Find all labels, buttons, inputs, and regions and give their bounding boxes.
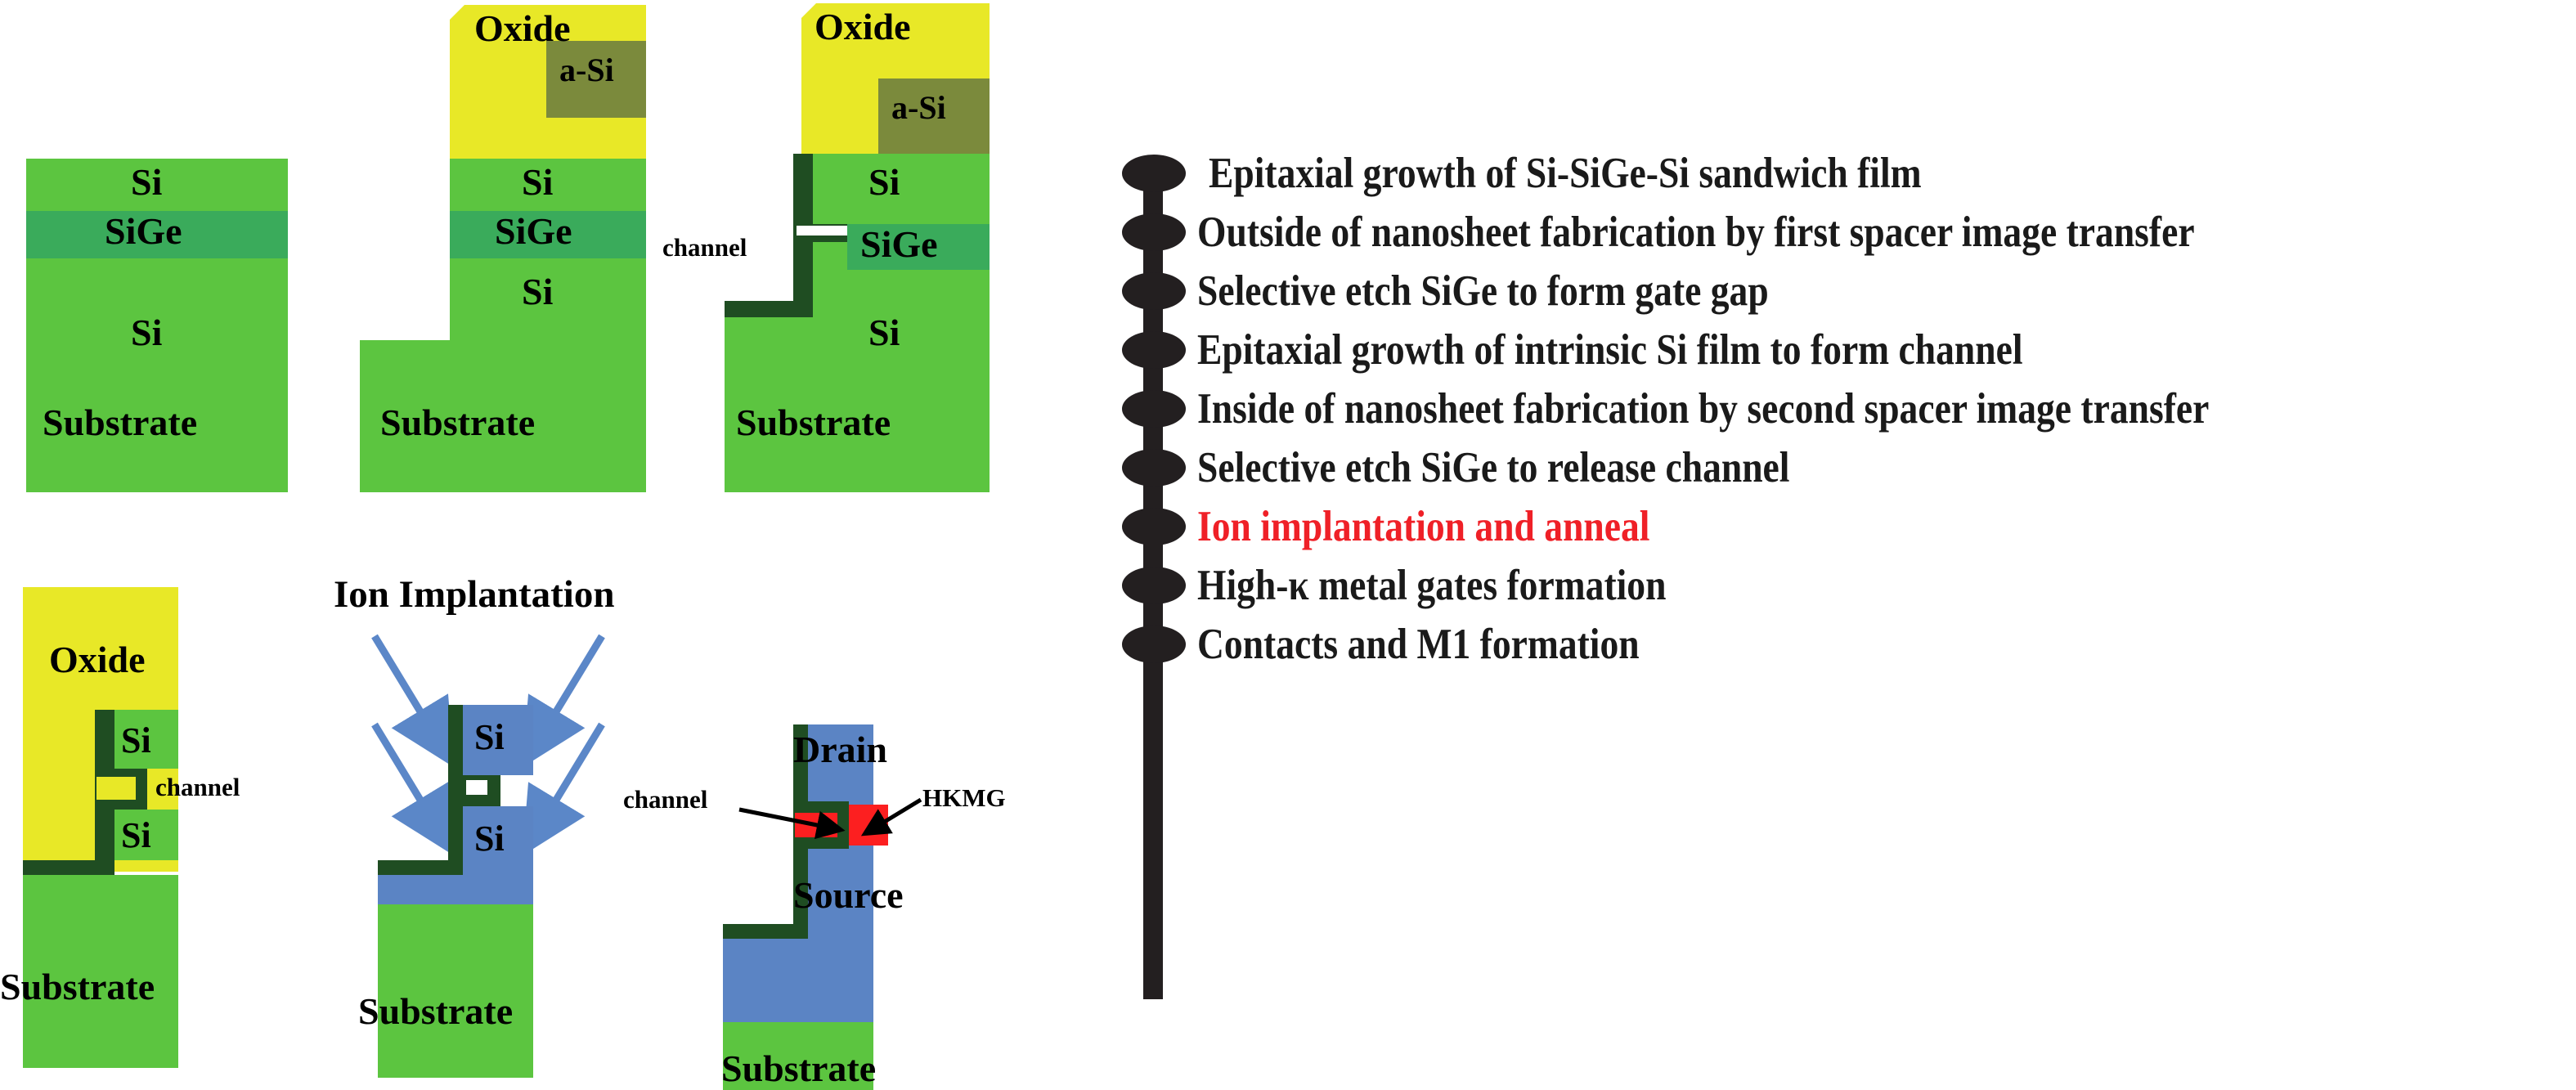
panel-5-ion-implantation: Ion Implantation Si Si Substrate xyxy=(311,564,654,1084)
panel-3-gate-gap: Oxide a-Si Si SiGe Si Substrate channel xyxy=(646,0,1022,540)
panel5-si-bottom-label: Si xyxy=(474,818,505,859)
timeline-step[interactable]: Selective etch SiGe to form gate gap xyxy=(1096,244,2576,295)
panel-3-svg xyxy=(646,0,1022,540)
timeline-step[interactable]: Inside of nanosheet fabrication by secon… xyxy=(1096,362,2576,413)
liner-base xyxy=(378,860,466,875)
panel6-hkmg-callout: HKMG xyxy=(922,783,1006,813)
panel3-sige-label: SiGe xyxy=(860,222,938,266)
liner-base xyxy=(23,860,114,875)
panel-4-intrinsic-si-channel: Oxide Si Si Substrate channel xyxy=(0,564,327,1084)
implant-arrow-4 xyxy=(541,724,602,824)
si-base-layer xyxy=(723,934,873,1022)
liner-base xyxy=(725,301,813,317)
panel6-substrate-label: Substrate xyxy=(721,1047,876,1090)
panel2-si-top-label: Si xyxy=(522,160,553,204)
timeline-step[interactable]: Epitaxial growth of Si-SiGe-Si sandwich … xyxy=(1096,127,2576,177)
panel3-si-top-label: Si xyxy=(868,160,900,204)
panel6-source-label: Source xyxy=(793,873,904,917)
panel4-si-top-label: Si xyxy=(121,720,151,761)
si-base-layer xyxy=(378,875,533,904)
panel4-oxide-label: Oxide xyxy=(49,638,146,681)
si-top-layer xyxy=(813,154,990,224)
timeline-step-label: Contacts and M1 formation xyxy=(1197,620,1640,669)
timeline-step[interactable]: Selective etch SiGe to release channel xyxy=(1096,421,2576,472)
panel3-si-bottom-label: Si xyxy=(868,311,900,354)
panel3-oxide-label: Oxide xyxy=(815,5,911,48)
panel5-substrate-label: Substrate xyxy=(358,989,513,1033)
timeline-step[interactable]: Contacts and M1 formation xyxy=(1096,598,2576,648)
implant-arrow-2 xyxy=(375,724,435,824)
timeline-step[interactable]: High-κ metal gates formation xyxy=(1096,539,2576,590)
liner-gap-right xyxy=(836,801,849,849)
panel2-sige-label: SiGe xyxy=(495,209,572,253)
panel3-substrate-label: Substrate xyxy=(736,401,891,444)
channel-notch xyxy=(96,777,136,800)
panel2-a-si-label: a-Si xyxy=(559,51,614,89)
si-bottom-layer-2 xyxy=(813,270,990,321)
panel-1-epitaxial-stack: Si SiGe Si Substrate xyxy=(0,0,278,540)
implant-arrow-1 xyxy=(375,636,435,736)
panel5-si-top-label: Si xyxy=(474,716,505,758)
panel4-si-bottom-label: Si xyxy=(121,814,151,856)
panel2-oxide-label: Oxide xyxy=(474,7,571,50)
timeline-bullet-icon xyxy=(1122,626,1186,663)
panel3-a-si-label: a-Si xyxy=(891,88,946,127)
panel1-substrate-label: Substrate xyxy=(43,401,197,444)
panel1-si-top-label: Si xyxy=(131,160,162,204)
panel3-channel-callout: channel xyxy=(662,233,747,262)
panel2-substrate-label: Substrate xyxy=(380,401,535,444)
panel1-sige-label: SiGe xyxy=(105,209,182,253)
panel1-si-bottom-label: Si xyxy=(131,311,162,354)
panel6-channel-callout: channel xyxy=(623,785,707,814)
timeline-step[interactable]: Outside of nanosheet fabrication by firs… xyxy=(1096,186,2576,236)
implant-arrow-3 xyxy=(541,636,602,736)
panel-1-svg xyxy=(0,0,278,540)
panel-2-outside-sit: Oxide a-Si Si SiGe Si Substrate xyxy=(360,0,687,540)
panel-6-hkmg-contacts: Drain Source Substrate channel HKMG xyxy=(622,564,1047,1084)
panel-6-svg xyxy=(622,564,1047,1084)
process-flow-figure: Si SiGe Si Substrate Oxide a-Si Si SiGe … xyxy=(0,0,2576,1084)
panel6-drain-label: Drain xyxy=(793,728,887,771)
process-timeline: Epitaxial growth of Si-SiGe-Si sandwich … xyxy=(1096,147,2576,1014)
timeline-step[interactable]: Epitaxial growth of intrinsic Si film to… xyxy=(1096,303,2576,354)
channel-gap xyxy=(797,226,847,235)
panel4-channel-callout: channel xyxy=(155,773,240,802)
panel4-substrate-label: Substrate xyxy=(0,965,155,1008)
panel5-title: Ion Implantation xyxy=(334,572,614,617)
liner-base xyxy=(723,924,808,939)
timeline-step[interactable]: Ion implantation and anneal xyxy=(1096,480,2576,531)
panel2-si-bottom-label: Si xyxy=(522,270,553,313)
liner-gap-right xyxy=(136,767,147,811)
si-bottom-layer xyxy=(26,258,288,492)
